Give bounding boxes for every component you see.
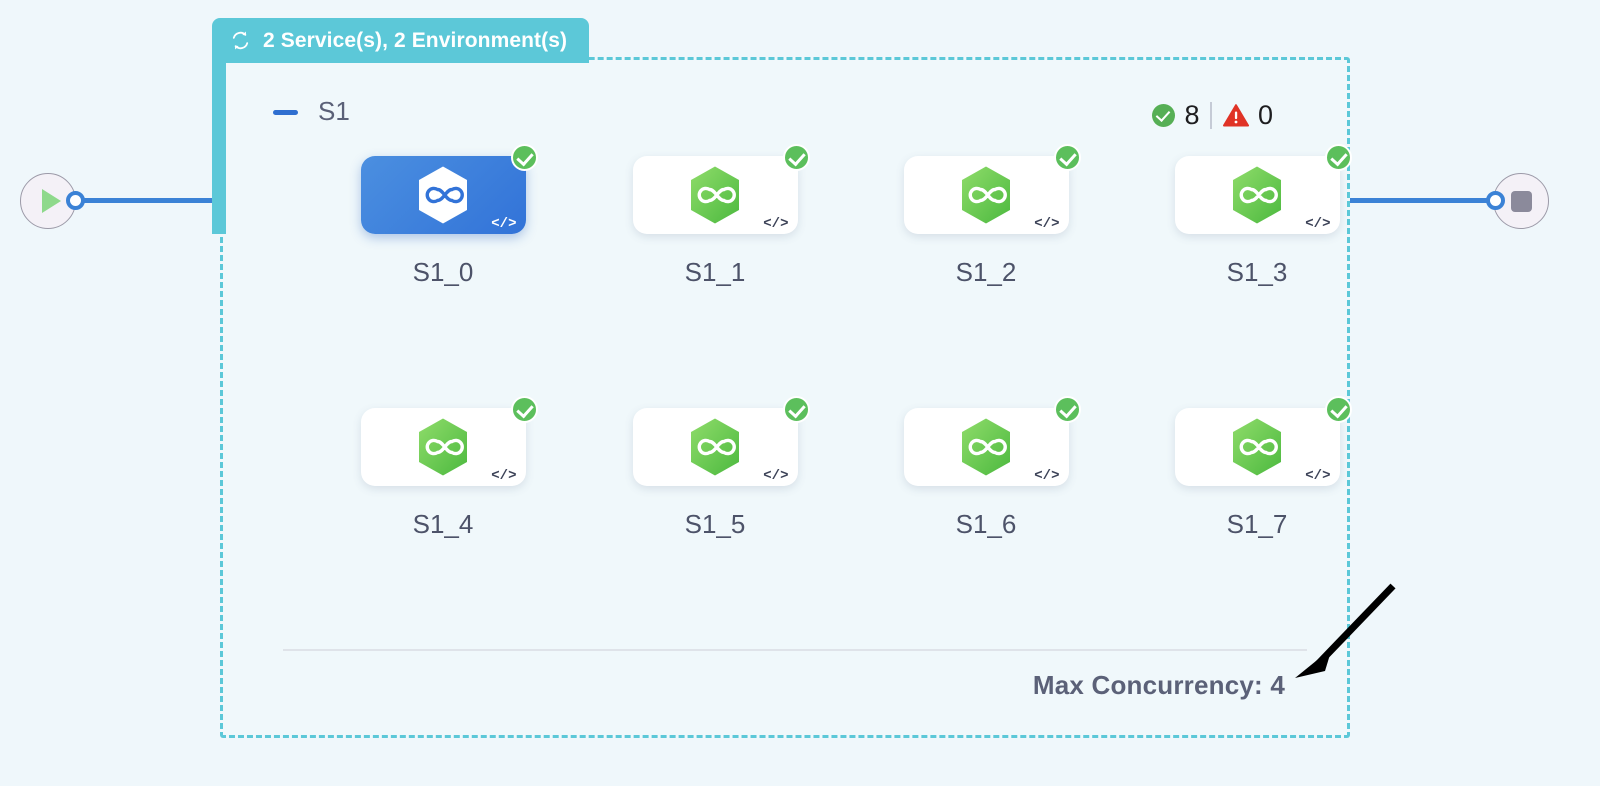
node-label: S1_6 (886, 509, 1086, 540)
stop-icon (1511, 191, 1532, 212)
loop-group-tab[interactable]: 2 Service(s), 2 Environment(s) (212, 18, 589, 63)
code-icon: </> (491, 469, 516, 483)
node-cell: </>S1_3 (1157, 156, 1357, 288)
node-card-s1_2[interactable]: </> (904, 156, 1069, 234)
node-label: S1_2 (886, 257, 1086, 288)
node-label: S1_3 (1157, 257, 1357, 288)
hexagon-infinity-icon (687, 165, 743, 225)
loop-group-container[interactable]: S1 8 0 (220, 57, 1350, 738)
node-card-s1_3[interactable]: </> (1175, 156, 1340, 234)
node-cell: </>S1_1 (615, 156, 815, 288)
hexagon-infinity-icon (958, 417, 1014, 477)
node-cell: </>S1_2 (886, 156, 1086, 288)
status-badge-success (511, 396, 538, 423)
loop-tab-label: 2 Service(s), 2 Environment(s) (263, 29, 567, 53)
hexagon-infinity-icon (415, 165, 471, 225)
status-summary: 8 0 (1152, 99, 1273, 131)
collapse-minus-icon[interactable] (273, 110, 298, 115)
status-badge-success (1325, 396, 1352, 423)
node-card-s1_0[interactable]: </> (361, 156, 526, 234)
loop-group-rail (212, 60, 226, 234)
node-grid: </>S1_0</>S1_1</>S1_2</>S1_3</>S1_4</>S1… (223, 156, 1347, 660)
success-status-chip: 8 (1152, 102, 1199, 129)
play-icon (42, 189, 61, 213)
footer-divider (283, 649, 1307, 651)
max-concurrency-label: Max Concurrency: 4 (1033, 670, 1285, 701)
code-icon: </> (491, 217, 516, 231)
status-badge-success (511, 144, 538, 171)
node-cell: </>S1_4 (343, 408, 543, 540)
node-label: S1_4 (343, 509, 543, 540)
start-output-port[interactable] (66, 191, 85, 210)
code-icon: </> (763, 217, 788, 231)
status-badge-success (783, 396, 810, 423)
node-label: S1_0 (343, 257, 543, 288)
node-label: S1_1 (615, 257, 815, 288)
group-title: S1 (318, 96, 350, 127)
node-card-s1_5[interactable]: </> (633, 408, 798, 486)
code-icon: </> (1305, 469, 1330, 483)
node-card-s1_7[interactable]: </> (1175, 408, 1340, 486)
warning-triangle-icon (1223, 104, 1249, 127)
status-divider (1210, 102, 1212, 129)
node-label: S1_7 (1157, 509, 1357, 540)
status-badge-success (783, 144, 810, 171)
workflow-canvas: S1 8 0 (0, 0, 1600, 786)
status-badge-success (1054, 396, 1081, 423)
success-count: 8 (1184, 102, 1199, 129)
check-circle-icon (1152, 104, 1175, 127)
code-icon: </> (1034, 217, 1059, 231)
end-input-port[interactable] (1486, 191, 1505, 210)
group-header: S1 8 0 (273, 96, 1311, 134)
code-icon: </> (1034, 469, 1059, 483)
hexagon-infinity-icon (1229, 165, 1285, 225)
node-cell: </>S1_7 (1157, 408, 1357, 540)
hexagon-infinity-icon (687, 417, 743, 477)
warning-count: 0 (1258, 102, 1273, 129)
loop-icon (229, 29, 252, 52)
hexagon-infinity-icon (1229, 417, 1285, 477)
code-icon: </> (763, 469, 788, 483)
hexagon-infinity-icon (958, 165, 1014, 225)
node-row: </>S1_0</>S1_1</>S1_2</>S1_3 (223, 156, 1347, 408)
status-badge-success (1054, 144, 1081, 171)
node-row: </>S1_4</>S1_5</>S1_6</>S1_7 (223, 408, 1347, 660)
node-card-s1_6[interactable]: </> (904, 408, 1069, 486)
node-cell: </>S1_6 (886, 408, 1086, 540)
node-card-s1_1[interactable]: </> (633, 156, 798, 234)
node-cell: </>S1_0 (343, 156, 543, 288)
node-cell: </>S1_5 (615, 408, 815, 540)
status-badge-success (1325, 144, 1352, 171)
warning-status-chip: 0 (1223, 102, 1273, 129)
code-icon: </> (1305, 217, 1330, 231)
node-label: S1_5 (615, 509, 815, 540)
edge-group-to-end (1345, 198, 1493, 203)
hexagon-infinity-icon (415, 417, 471, 477)
edge-start-to-group (82, 198, 224, 203)
node-card-s1_4[interactable]: </> (361, 408, 526, 486)
